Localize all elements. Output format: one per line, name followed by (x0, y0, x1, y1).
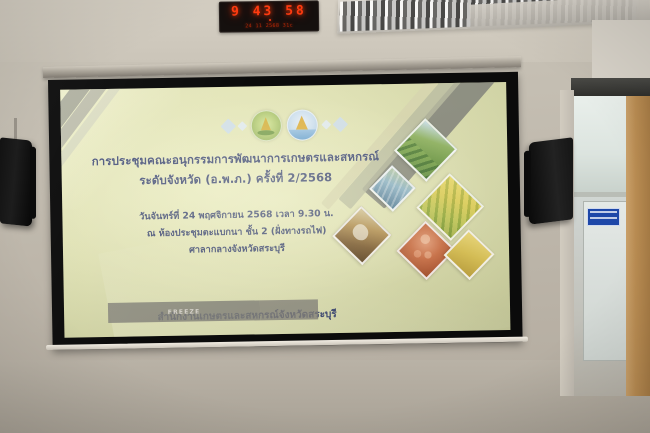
ceiling-beam-right (571, 78, 650, 98)
projector-freeze-indicator: FREEZE (108, 300, 260, 323)
blue-wall-sign (587, 208, 620, 226)
decor-diamond-icon (237, 121, 247, 131)
projector-freeze-label: FREEZE (168, 308, 201, 316)
ministry-of-agriculture-emblem (250, 110, 282, 142)
led-clock-time: 9 43 58 (220, 3, 318, 19)
wall-speaker-right (529, 137, 573, 224)
presentation-slide: การประชุมคณะอนุกรรมการพัฒนาการเกษตรและสห… (60, 82, 510, 338)
blue-wall-sign-text (590, 211, 617, 223)
projector-screen: การประชุมคณะอนุกรรมการพัฒนาการเกษตรและสห… (48, 72, 523, 350)
decor-diamond-icon (220, 119, 236, 135)
wall-speaker-left (0, 137, 32, 226)
room-wall-lower (0, 360, 650, 433)
slide-text-block: การประชุมคณะอนุกรรมการพัฒนาการเกษตรและสห… (75, 146, 397, 261)
led-wall-clock: 9 43 58 24 11 2568 31c (219, 0, 319, 32)
doorway-right (571, 96, 650, 396)
wall-column-right (560, 90, 574, 396)
photo-green-fields (394, 118, 458, 182)
saraburi-province-seal (286, 109, 318, 141)
door-wood-frame (626, 96, 650, 396)
room-photo: 9 43 58 24 11 2568 31c (0, 0, 650, 433)
background-wall (592, 20, 650, 84)
slide-subtitle-block: วันจันทร์ที่ 24 พฤศจิกายน 2568 เวลา 9.30… (76, 204, 397, 261)
led-clock-indicator (269, 19, 271, 21)
led-clock-subdisplay: 24 11 2568 31c (220, 22, 318, 29)
projector-osd-bar-extension (260, 299, 318, 320)
